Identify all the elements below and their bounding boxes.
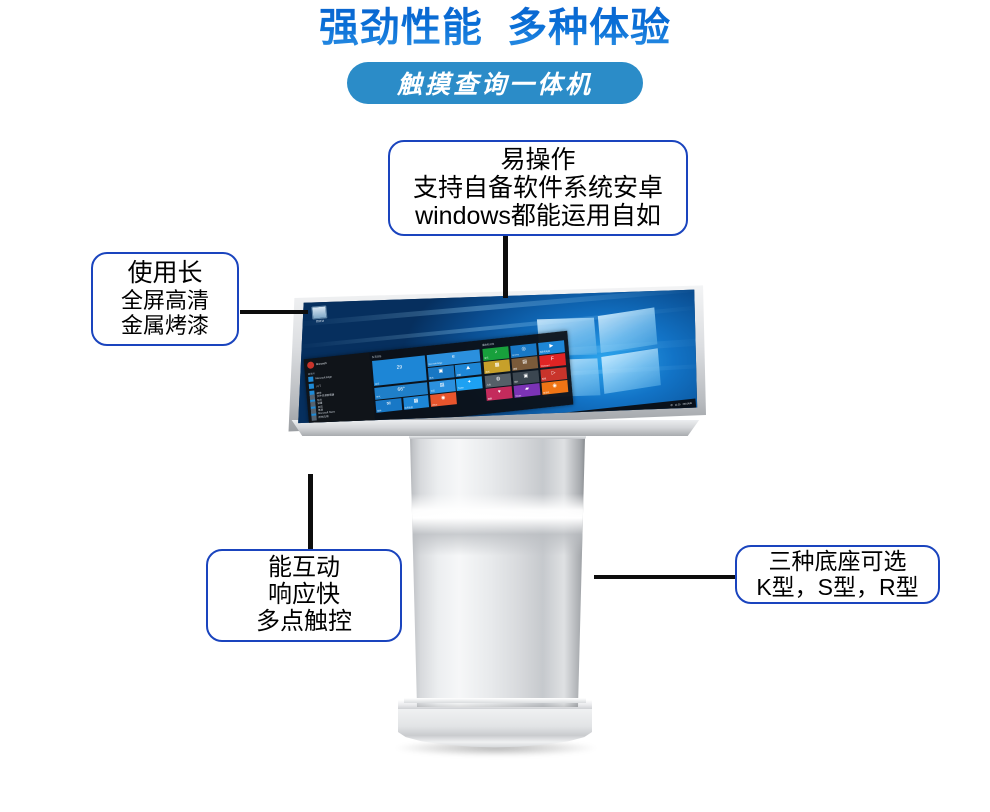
account-name: Microsoft xyxy=(316,361,327,365)
rail-footer-label: 所有应用 xyxy=(319,414,329,419)
power-icon xyxy=(311,407,316,413)
tile-icon: ▤ xyxy=(440,382,445,387)
folder-icon xyxy=(310,393,315,399)
gear-icon xyxy=(310,400,315,406)
tile-label: 日历 xyxy=(375,381,379,384)
start-tile[interactable]: ▤相册 xyxy=(511,356,538,371)
tile-label: Microsoft Edge xyxy=(429,362,443,365)
tile-icon: ▤ xyxy=(522,359,527,364)
tile-grid: 29日历eMicrosoft Edge▣照片⛰地图66°天气▤资讯✦Twitte… xyxy=(372,348,484,412)
connector-line-left xyxy=(240,310,308,314)
callout-line: K型，S型，R型 xyxy=(756,575,918,601)
tile-label: 健康 xyxy=(488,396,492,399)
start-tile[interactable]: ▶电影和电视 xyxy=(538,339,565,354)
tile-icon: ▩ xyxy=(495,362,500,367)
start-tile[interactable]: ▰Skype xyxy=(514,383,541,398)
tile-label: Twitter xyxy=(458,387,464,390)
tile-label: 资讯 xyxy=(431,389,435,392)
tray-clock: 11:25 xyxy=(675,404,681,407)
app-icon xyxy=(309,383,314,389)
tile-label: 应用商店 xyxy=(405,405,414,409)
recycle-bin-glyph xyxy=(311,305,327,319)
tile-label: Groove xyxy=(512,354,519,357)
tile-icon: ◎ xyxy=(521,346,526,351)
tile-label: 电影和电视 xyxy=(540,349,551,353)
rail-footer-label: 设置 xyxy=(317,400,322,405)
tile-icon: F xyxy=(551,356,554,361)
callout-base-options: 三种底座可选 K型，S型，R型 xyxy=(735,545,940,604)
tile-label: Flipboard xyxy=(541,364,550,367)
connector-line-right xyxy=(594,575,737,579)
tile-icon: ✦ xyxy=(467,379,472,384)
callout-line: 金属烤漆 xyxy=(121,314,209,339)
callout-easy-operation: 易操作 支持自备软件系统安卓 windows都能运用自如 xyxy=(388,140,688,236)
tile-icon: ♥ xyxy=(498,389,501,394)
callout-durability: 使用长 全屏高清 金属烤漆 xyxy=(91,252,239,346)
start-tile[interactable]: 29日历 xyxy=(372,354,427,385)
start-tile[interactable]: ▣照片 xyxy=(428,365,455,380)
tile-label: 照片 xyxy=(430,375,434,378)
tile-icon: ▷ xyxy=(552,370,556,375)
tile-icon: ◉ xyxy=(441,395,446,400)
recycle-bin-icon[interactable]: 回收站 xyxy=(310,305,328,323)
kiosk-monitor: 回收站 Microsoft 最常用 Microsoft Edge xyxy=(286,283,706,443)
kiosk-column-bottom-edge xyxy=(404,698,586,703)
tile-icon: e xyxy=(452,354,455,359)
infographic-canvas: 强劲性能 多种体验 触摸查询一体机 xyxy=(0,0,990,812)
tile-label: 地图 xyxy=(457,373,461,376)
start-tile[interactable]: ▣图片 xyxy=(513,369,540,384)
rail-footer-label: 文件资源管理器 xyxy=(317,392,335,398)
callout-line: 全屏高清 xyxy=(121,289,209,314)
tile-icon: ⛰ xyxy=(466,366,471,371)
kiosk-illustration: 回收站 Microsoft 最常用 Microsoft Edge xyxy=(0,0,990,812)
tile-icon: ▰ xyxy=(525,386,529,391)
tray-date: 2016/6/8 xyxy=(683,403,692,407)
start-tile[interactable]: ⛰地图 xyxy=(455,362,482,377)
rail-item-label: Microsoft Edge xyxy=(315,375,332,380)
tile-icon: ✉ xyxy=(387,401,392,406)
avatar xyxy=(307,361,315,369)
start-menu-tiles: 生活动态 29日历eMicrosoft Edge▣照片⛰地图66°天气▤资讯✦T… xyxy=(370,330,574,425)
tile-group-left: 生活动态 29日历eMicrosoft Edge▣照片⛰地图66°天气▤资讯✦T… xyxy=(372,343,485,425)
callout-line: 多点触控 xyxy=(256,609,352,636)
tile-group-right: 播放和浏览 ♪音乐◎Groove▶电影和电视▩游戏▤相册FFlipboard◍人… xyxy=(482,334,569,413)
callout-line: 三种底座可选 xyxy=(769,549,907,575)
tile-label: 游戏 xyxy=(486,369,490,372)
tray-ime-label: 中 xyxy=(671,405,674,408)
start-tile[interactable]: ◉录音机 xyxy=(541,380,568,395)
tile-icon: ▦ xyxy=(414,398,419,403)
rail-footer-label: 电源 xyxy=(318,407,323,412)
tile-label: 相册 xyxy=(513,366,517,369)
connector-line-top xyxy=(503,232,508,298)
start-tile[interactable]: ▤资讯 xyxy=(429,378,456,393)
callout-line: 支持自备软件系统安卓 xyxy=(413,174,663,202)
start-tile[interactable]: ◎Groove xyxy=(510,342,537,357)
start-tile[interactable]: ♪音乐 xyxy=(483,345,510,360)
start-tile[interactable]: ▦应用商店 xyxy=(403,395,430,410)
tile-icon: 29 xyxy=(397,365,403,371)
tile-label: 邮件 xyxy=(377,408,381,411)
app-icon xyxy=(308,376,313,382)
tile-icon: ◍ xyxy=(496,376,501,381)
start-tile[interactable]: ✉邮件 xyxy=(376,398,403,413)
tile-icon: ▣ xyxy=(439,368,444,373)
tile-icon: ▶ xyxy=(549,343,553,348)
connector-line-bottom xyxy=(308,474,313,552)
start-tile[interactable]: ◉Office xyxy=(430,392,457,407)
tile-icon: ▣ xyxy=(524,373,529,378)
kiosk-column xyxy=(410,437,585,707)
system-tray[interactable]: 中 11:25 2016/6/8 xyxy=(671,403,693,408)
start-menu-rail: Microsoft 最常用 Microsoft Edge 入门 xyxy=(304,352,376,432)
apps-icon xyxy=(312,414,317,420)
callout-interaction: 能互动 响应快 多点触控 xyxy=(206,549,402,642)
start-tile[interactable]: ▩游戏 xyxy=(484,359,511,374)
monitor-chin xyxy=(290,420,700,436)
tile-icon: ◉ xyxy=(553,383,558,388)
rail-item-label: 入门 xyxy=(316,383,321,388)
tile-grid: ♪音乐◎Groove▶电影和电视▩游戏▤相册FFlipboard◍人脉▣图片▷视… xyxy=(483,339,569,400)
tile-label: 视频 xyxy=(542,377,546,380)
tile-icon: 66° xyxy=(397,386,405,392)
tile-label: 录音机 xyxy=(543,390,549,394)
tile-label: Skype xyxy=(516,394,522,397)
start-tile[interactable]: ◍人脉 xyxy=(485,372,512,387)
start-tile[interactable]: ♥健康 xyxy=(486,386,513,401)
start-tile[interactable]: ▷视频 xyxy=(540,366,567,381)
tile-label: 天气 xyxy=(376,395,380,398)
callout-line: 响应快 xyxy=(268,582,340,609)
rail-footer-list: 文件资源管理器 设置 电源 xyxy=(309,387,374,422)
tile-label: 图片 xyxy=(514,380,518,383)
start-tile[interactable]: ✦Twitter xyxy=(456,375,483,390)
tile-label: Office xyxy=(432,403,438,406)
callout-line: 能互动 xyxy=(268,555,340,582)
callout-line: 易操作 xyxy=(500,146,575,174)
callout-line: 使用长 xyxy=(127,259,202,287)
kiosk-base-plate xyxy=(398,706,592,748)
tile-label: 人脉 xyxy=(487,383,491,386)
start-tile[interactable]: FFlipboard xyxy=(539,353,566,368)
tile-icon: ♪ xyxy=(495,349,498,354)
tile-label: 音乐 xyxy=(484,356,488,359)
callout-line: windows都能运用自如 xyxy=(415,202,661,230)
